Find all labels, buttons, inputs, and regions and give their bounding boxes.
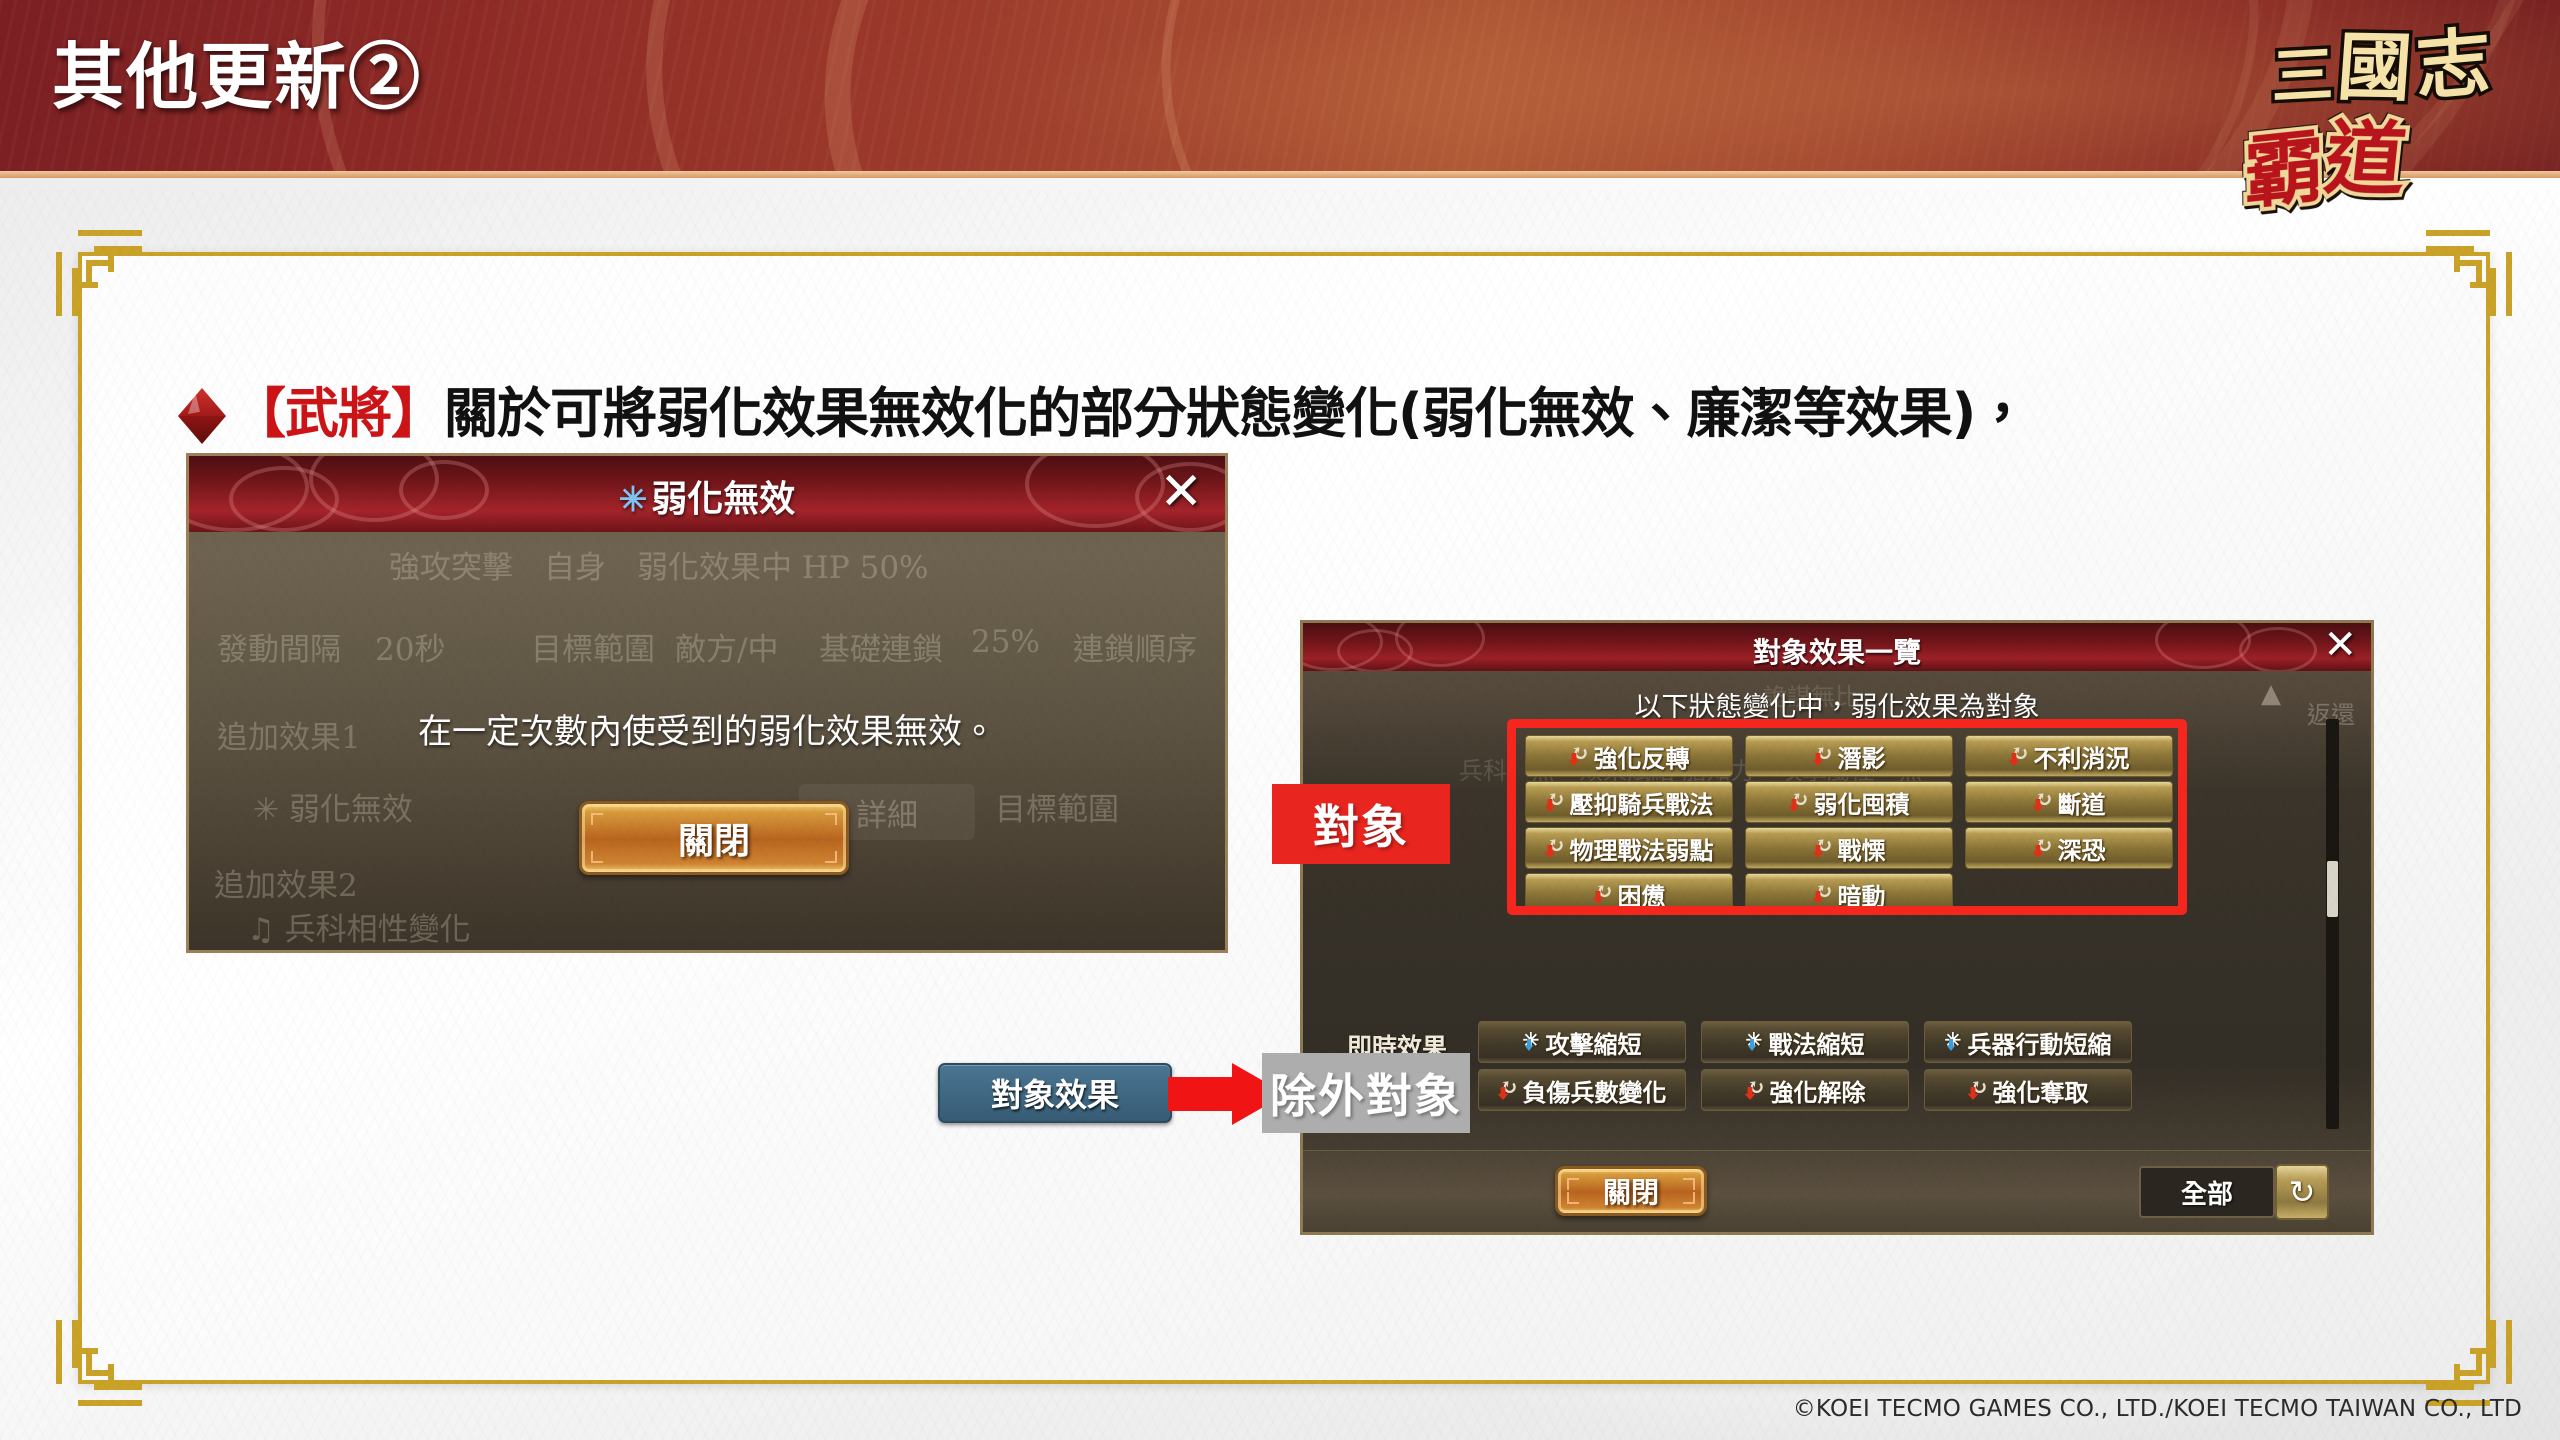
chevron-up-icon: ▲ bbox=[2261, 679, 2281, 709]
effect-button[interactable]: 困憊 bbox=[1525, 873, 1733, 915]
ghost-interval-value: 20秒 bbox=[375, 624, 445, 669]
close-button[interactable]: 關閉 bbox=[579, 801, 849, 875]
callout-target: 對象 bbox=[1272, 784, 1450, 864]
effect-button[interactable]: 戰慄 bbox=[1745, 827, 1953, 869]
effect-button[interactable]: 深恐 bbox=[1965, 827, 2173, 869]
dialog-title-text: 弱化無效 bbox=[651, 478, 795, 520]
callout-excluded: 除外對象 bbox=[1262, 1053, 1470, 1133]
filter-select[interactable]: 全部 bbox=[2139, 1166, 2275, 1218]
effect-button[interactable]: 強化反轉 bbox=[1525, 735, 1733, 777]
ghost-bg-title: 詭謀無比 bbox=[1763, 677, 1859, 712]
scrollbar-thumb[interactable] bbox=[2327, 861, 2338, 917]
debuff-down-icon bbox=[1813, 883, 1835, 905]
ghost-skill-summary: 強攻突擊 自身 弱化效果中 HP 50% bbox=[389, 542, 929, 587]
header-underline bbox=[0, 171, 2560, 178]
effect-button[interactable]: 兵器行動短縮 bbox=[1924, 1021, 2132, 1063]
panel-corner-ornament bbox=[2426, 1320, 2512, 1406]
effect-button[interactable]: 攻擊縮短 bbox=[1478, 1021, 1686, 1063]
game-logo-title-bottom: 霸道 bbox=[2241, 95, 2411, 217]
effect-button[interactable]: 物理戰法弱點 bbox=[1525, 827, 1733, 869]
ghost-add-effect-2-name: ♫ 兵科相性變化 bbox=[247, 904, 471, 949]
debuff-down-icon bbox=[1745, 1079, 1767, 1101]
effect-button[interactable]: 潛影 bbox=[1745, 735, 1953, 777]
snowflake-icon bbox=[1945, 1031, 1965, 1053]
panel-corner-ornament bbox=[2426, 230, 2512, 316]
debuff-down-icon bbox=[2033, 837, 2055, 859]
target-effect-button[interactable]: 對象效果 bbox=[938, 1063, 1172, 1123]
snowflake-icon bbox=[1523, 1031, 1543, 1053]
debuff-down-icon bbox=[1569, 745, 1591, 767]
effect-button[interactable]: 斷道 bbox=[1965, 781, 2173, 823]
debuff-down-icon bbox=[1789, 791, 1811, 813]
ghost-scope-value: 敵方/中 bbox=[675, 624, 778, 669]
headline-line-1: 關於可將弱化效果無效化的部分狀態變化(弱化無效、廉潔等效果)， bbox=[444, 382, 2028, 445]
skill-detail-dialog: ✳弱化無效 ✕ 強攻突擊 自身 弱化效果中 HP 50% 發動間隔 20秒 目標… bbox=[186, 453, 1228, 953]
ghost-chain-label: 基礎連鎖 bbox=[819, 624, 943, 669]
effect-button[interactable]: 壓抑騎兵戰法 bbox=[1525, 781, 1733, 823]
effect-button[interactable]: 戰法縮短 bbox=[1701, 1021, 1909, 1063]
headline-tag: 【武將】 bbox=[232, 382, 444, 445]
header-banner: 其他更新② bbox=[0, 0, 2560, 178]
ghost-chain-value: 25% bbox=[971, 624, 1040, 660]
close-button-label: 關閉 bbox=[678, 812, 750, 864]
debuff-down-icon bbox=[1813, 745, 1835, 767]
debuff-down-icon bbox=[2033, 791, 2055, 813]
close-x-icon[interactable]: ✕ bbox=[2323, 625, 2357, 665]
panel-corner-ornament bbox=[56, 1320, 142, 1406]
ghost-order-label: 連鎖順序 bbox=[1073, 624, 1197, 669]
dialog-title: 對象效果一覽 bbox=[1303, 631, 2371, 671]
refresh-icon[interactable]: ↻ bbox=[2275, 1164, 2329, 1220]
slide-root: 其他更新② 三國志 霸道 【武將】關於可將弱化效果無效化的部分狀態變化(弱化無效… bbox=[0, 0, 2560, 1440]
effect-button[interactable]: 強化奪取 bbox=[1924, 1069, 2132, 1111]
effect-button[interactable]: 不利消況 bbox=[1965, 735, 2173, 777]
debuff-down-icon bbox=[1813, 837, 1835, 859]
debuff-down-icon bbox=[1593, 883, 1615, 905]
snowflake-icon: ✳ bbox=[619, 480, 648, 520]
close-x-icon[interactable]: ✕ bbox=[1159, 466, 1203, 518]
dialog-title: ✳弱化無效 bbox=[189, 470, 1225, 522]
ghost-add-effect-2-label: 追加效果2 bbox=[214, 860, 358, 905]
ghost-interval-label: 發動間隔 bbox=[217, 624, 341, 669]
skill-description: 在一定次數內使受到的弱化效果無效。 bbox=[189, 704, 1225, 753]
effect-button[interactable]: 強化解除 bbox=[1701, 1069, 1909, 1111]
ghost-add-effect-1-name: ✳ 弱化無效 bbox=[253, 784, 413, 829]
debuff-down-icon bbox=[1545, 791, 1567, 813]
ghost-scope-label: 目標範圍 bbox=[531, 624, 655, 669]
page-title: 其他更新② bbox=[52, 18, 422, 123]
effect-button[interactable]: 負傷兵數變化 bbox=[1478, 1069, 1686, 1111]
target-effect-list-dialog: 對象效果一覽 ✕ 以下狀態變化中，弱化效果為對象 詭謀無比 ▲ 返還 兵科 無 … bbox=[1300, 620, 2374, 1235]
effect-button[interactable]: 弱化囤積 bbox=[1745, 781, 1953, 823]
debuff-down-icon bbox=[1498, 1079, 1520, 1101]
effect-button[interactable]: 暗動 bbox=[1745, 873, 1953, 915]
red-diamond-icon bbox=[178, 388, 226, 444]
ghost-effect-scope-label: 目標範圍 bbox=[995, 784, 1119, 829]
close-button-label: 關閉 bbox=[1603, 1171, 1659, 1211]
debuff-down-icon bbox=[1968, 1079, 1990, 1101]
copyright-text: ©KOEI TECMO GAMES CO., LTD./KOEI TECMO T… bbox=[1793, 1396, 2522, 1422]
close-button[interactable]: 關閉 bbox=[1555, 1166, 1707, 1216]
debuff-down-icon bbox=[1545, 837, 1567, 859]
debuff-down-icon bbox=[2009, 745, 2031, 767]
snowflake-icon bbox=[1746, 1031, 1766, 1053]
game-logo: 三國志 霸道 bbox=[2224, 6, 2524, 214]
scrollbar-track[interactable] bbox=[2326, 719, 2339, 1129]
panel-corner-ornament bbox=[56, 230, 142, 316]
